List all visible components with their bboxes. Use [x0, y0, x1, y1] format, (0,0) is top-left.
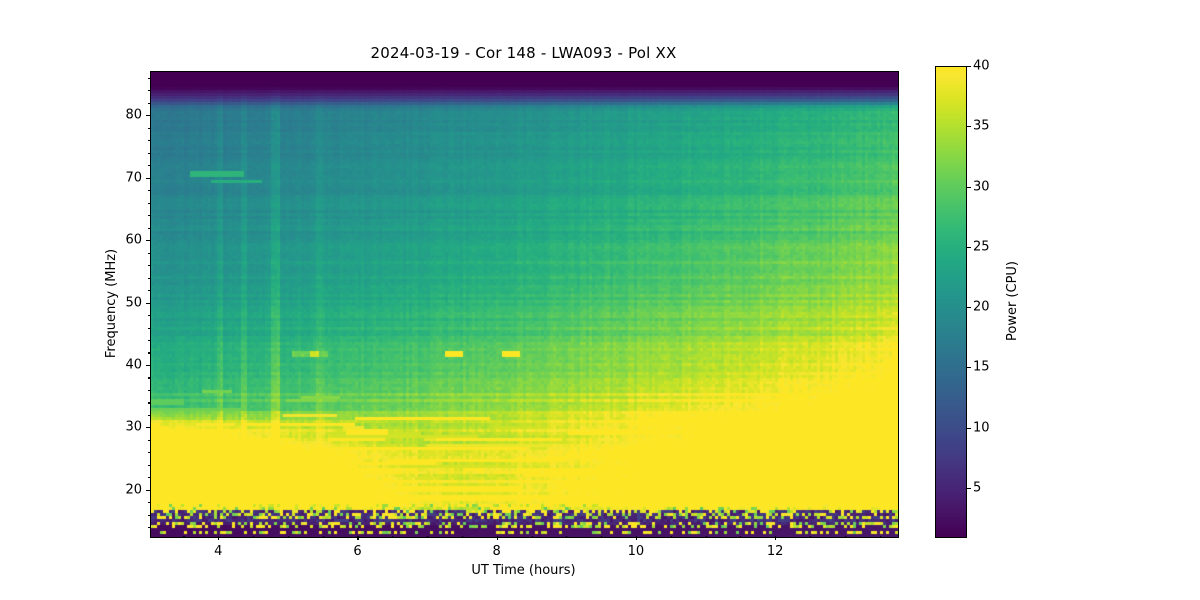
- y-axis-tick: [146, 365, 150, 366]
- colorbar-tick: [967, 126, 971, 127]
- y-axis-minor-tick: [148, 315, 150, 316]
- y-axis-minor-tick: [148, 90, 150, 91]
- y-axis-minor-tick: [148, 78, 150, 79]
- y-axis-minor-tick: [148, 278, 150, 279]
- y-axis-tick: [146, 303, 150, 304]
- y-axis-minor-tick: [148, 265, 150, 266]
- colorbar-tick: [967, 187, 971, 188]
- colorbar-gradient: [936, 67, 966, 537]
- colorbar-tick-label: 5: [973, 480, 981, 495]
- x-axis-tick-label: 4: [214, 544, 222, 559]
- y-axis-minor-tick: [148, 402, 150, 403]
- y-axis-minor-tick: [148, 203, 150, 204]
- x-axis-minor-tick: [462, 536, 463, 538]
- x-axis-tick-label: 6: [353, 544, 361, 559]
- colorbar-tick-label: 20: [973, 300, 990, 315]
- y-axis-minor-tick: [148, 165, 150, 166]
- y-axis-minor-tick: [148, 128, 150, 129]
- x-axis-minor-tick: [288, 536, 289, 538]
- y-axis-minor-tick: [148, 328, 150, 329]
- x-axis-minor-tick: [845, 536, 846, 538]
- y-axis-minor-tick: [148, 502, 150, 503]
- x-axis-minor-tick: [253, 536, 254, 538]
- colorbar-tick-label: 30: [973, 179, 990, 194]
- y-axis-minor-tick: [148, 352, 150, 353]
- x-axis-tick-label: 8: [493, 544, 501, 559]
- colorbar-tick: [967, 247, 971, 248]
- y-axis-tick: [146, 427, 150, 428]
- x-axis-minor-tick: [427, 536, 428, 538]
- x-axis-minor-tick: [880, 536, 881, 538]
- page-title: 2024-03-19 - Cor 148 - LWA093 - Pol XX: [150, 44, 897, 62]
- x-axis-minor-tick: [810, 536, 811, 538]
- x-axis-minor-tick: [740, 536, 741, 538]
- x-axis-minor-tick: [323, 536, 324, 538]
- y-axis-tick-label: 80: [125, 108, 142, 123]
- y-axis-minor-tick: [148, 390, 150, 391]
- y-axis-minor-tick: [148, 515, 150, 516]
- x-axis-minor-tick: [392, 536, 393, 538]
- y-axis-minor-tick: [148, 290, 150, 291]
- x-axis-tick: [497, 536, 498, 540]
- y-axis-minor-tick: [148, 415, 150, 416]
- colorbar-tick-label: 35: [973, 119, 990, 134]
- colorbar-tick: [967, 488, 971, 489]
- y-axis-tick-label: 70: [125, 170, 142, 185]
- colorbar-tick-label: 25: [973, 239, 990, 254]
- y-axis-tick-label: 50: [125, 295, 142, 310]
- colorbar: [935, 66, 967, 538]
- spectrogram-axes: [150, 71, 899, 538]
- x-axis-tick: [636, 536, 637, 540]
- colorbar-tick: [967, 307, 971, 308]
- y-axis-tick-label: 20: [125, 482, 142, 497]
- spectrogram-figure: 2024-03-19 - Cor 148 - LWA093 - Pol XX 2…: [0, 0, 1200, 600]
- y-axis-minor-tick: [148, 527, 150, 528]
- colorbar-tick: [967, 428, 971, 429]
- y-axis-minor-tick: [148, 440, 150, 441]
- y-axis-tick-label: 60: [125, 233, 142, 248]
- y-axis-minor-tick: [148, 228, 150, 229]
- x-axis-minor-tick: [532, 536, 533, 538]
- y-axis-minor-tick: [148, 153, 150, 154]
- x-axis-minor-tick: [183, 536, 184, 538]
- y-axis-minor-tick: [148, 340, 150, 341]
- x-axis-tick: [218, 536, 219, 540]
- y-axis-tick: [146, 178, 150, 179]
- y-axis-minor-tick: [148, 140, 150, 141]
- spectrogram-image: [151, 72, 898, 537]
- colorbar-label: Power (CPU): [1005, 66, 1025, 536]
- x-axis-minor-tick: [566, 536, 567, 538]
- colorbar-tick-label: 10: [973, 420, 990, 435]
- y-axis-tick-label: 40: [125, 357, 142, 372]
- x-axis-tick: [775, 536, 776, 540]
- colorbar-tick: [967, 367, 971, 368]
- y-axis-tick-label: 30: [125, 420, 142, 435]
- colorbar-tick: [967, 66, 971, 67]
- x-axis-tick-label: 12: [767, 544, 784, 559]
- y-axis-minor-tick: [148, 190, 150, 191]
- x-axis-minor-tick: [601, 536, 602, 538]
- colorbar-tick-label: 15: [973, 360, 990, 375]
- y-axis-minor-tick: [148, 477, 150, 478]
- y-axis-minor-tick: [148, 253, 150, 254]
- y-axis-minor-tick: [148, 465, 150, 466]
- y-axis-tick: [146, 240, 150, 241]
- y-axis-label: Frequency (MHz): [104, 71, 124, 536]
- y-axis-tick: [146, 115, 150, 116]
- y-axis-tick: [146, 490, 150, 491]
- x-axis-minor-tick: [671, 536, 672, 538]
- y-axis-minor-tick: [148, 452, 150, 453]
- y-axis-minor-tick: [148, 377, 150, 378]
- y-axis-minor-tick: [148, 215, 150, 216]
- x-axis-tick: [357, 536, 358, 540]
- colorbar-tick-label: 40: [973, 59, 990, 74]
- x-axis-minor-tick: [706, 536, 707, 538]
- y-axis-minor-tick: [148, 103, 150, 104]
- x-axis-tick-label: 10: [628, 544, 645, 559]
- x-axis-label: UT Time (hours): [150, 563, 897, 578]
